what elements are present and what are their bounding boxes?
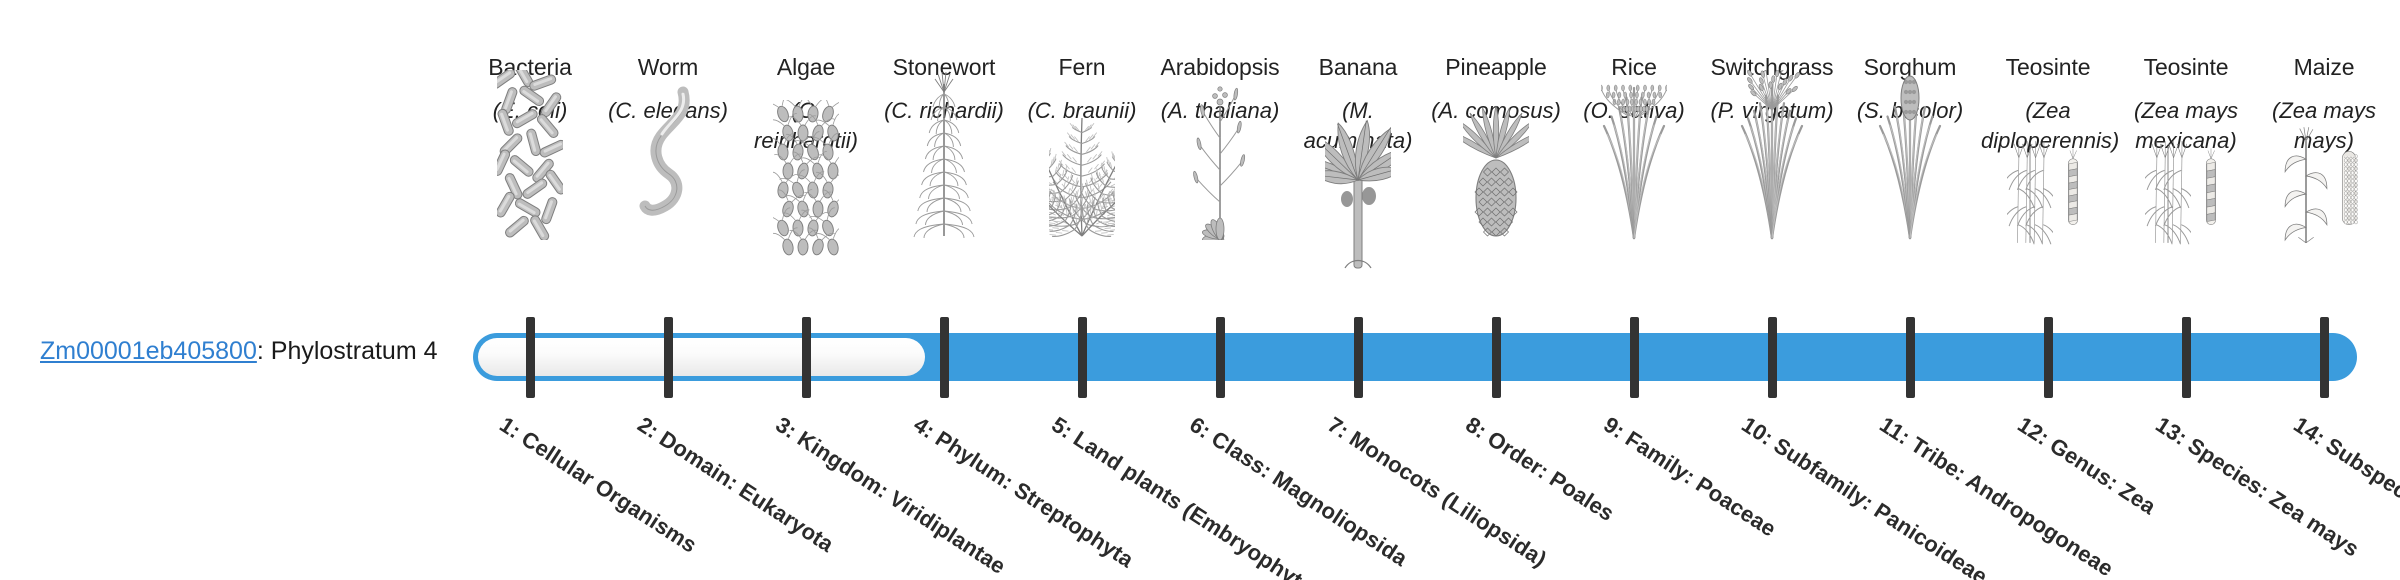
phylostratum-figure: Bacteria(E. coli) — [0, 0, 2400, 580]
switchgrass-illustration — [1739, 70, 1805, 240]
stratum-name: Genus: Zea — [2045, 433, 2160, 520]
species-column: Sorghum(S. bicolor) — [1841, 52, 1979, 240]
stratum-name: Class: Magnoliopsida — [1207, 426, 1412, 571]
bacteria-illustration — [497, 70, 563, 240]
teosinte-diploperennis-plant-illustration — [2007, 100, 2053, 270]
species-column: Worm(C. elegans) — [599, 52, 737, 240]
stratum-label: 9: Family: Poaceae — [1598, 410, 1899, 580]
arabidopsis-illustration — [1187, 70, 1253, 240]
bacteria-icon — [461, 136, 599, 240]
species-common-name: Banana — [1289, 52, 1427, 82]
banana-icon — [1289, 166, 1427, 270]
maize-plant-illustration — [2283, 100, 2329, 270]
species-common-name: Maize — [2255, 52, 2393, 82]
stonewort-illustration — [911, 70, 977, 240]
algae-icon — [737, 166, 875, 270]
species-column: Stonewort(C. richardii) — [875, 52, 1013, 240]
worm-icon — [599, 136, 737, 240]
stratum-label: 12: Genus: Zea — [2012, 410, 2313, 580]
rice-illustration — [1601, 70, 1667, 240]
species-column: Banana(M. acuminata) — [1289, 52, 1427, 270]
stratum-label: 7: Monocots (Liliopsida) — [1322, 410, 1623, 580]
stratum-number: 6: — [1185, 412, 1215, 444]
stratum-name: Phylum: Streptophyta — [931, 426, 1138, 573]
species-column: Teosinte(Zea diploperennis) — [1979, 52, 2117, 270]
teosinte-diplo-icon — [1979, 166, 2117, 270]
switchgrass-icon — [1703, 136, 1841, 240]
stratum-number: 11: — [1875, 412, 1915, 450]
banana-illustration — [1325, 100, 1391, 270]
stratum-number: 9: — [1599, 412, 1629, 444]
stratum-name: Cellular Organisms — [517, 426, 701, 558]
stratum-number: 7: — [1323, 412, 1353, 444]
stratum-label: 5: Land plants (Embryophyta) — [1046, 410, 1347, 580]
stratum-label: 1: Cellular Organisms — [494, 410, 795, 580]
stratum-number: 8: — [1461, 412, 1491, 444]
species-header-row: Bacteria(E. coli) — [0, 0, 2400, 300]
gene-id-link[interactable]: Zm00001eb405800 — [40, 337, 257, 365]
pineapple-icon — [1427, 136, 1565, 240]
stratum-number: 4: — [909, 412, 939, 444]
stratum-name: Order: Poales — [1483, 426, 1619, 526]
stonewort-icon — [875, 136, 1013, 240]
rice-icon — [1565, 136, 1703, 240]
species-column: Fern(C. braunii) — [1013, 52, 1151, 240]
stratum-label: 4: Phylum: Streptophyta — [908, 410, 1209, 580]
stratum-number: 5: — [1047, 412, 1077, 444]
stratum-name: Monocots (Liliopsida) — [1345, 426, 1551, 572]
stratum-name: Domain: Eukaryota — [655, 426, 838, 557]
species-common-name: Algae — [737, 52, 875, 82]
teosinte-diploperennis-ear-illustration — [2056, 100, 2090, 270]
stratum-name: Family: Poaceae — [1621, 426, 1780, 542]
sorghum-illustration — [1877, 70, 1943, 240]
stratum-number: 12: — [2013, 412, 2054, 450]
stratum-number: 1: — [495, 412, 525, 444]
stratum-label: 2: Domain: Eukaryota — [632, 410, 933, 580]
gene-label: Zm00001eb405800: Phylostratum 4 — [40, 336, 438, 366]
species-column: Algae(C. reinhardtii) — [737, 52, 875, 270]
arabidopsis-icon — [1151, 136, 1289, 240]
stratum-name: Kingdom: Viridiplantae — [793, 426, 1010, 579]
fern-icon — [1013, 136, 1151, 240]
pineapple-illustration — [1463, 70, 1529, 240]
species-column: Switchgrass(P. virgatum) — [1703, 52, 1841, 240]
phylostratum-progress-bar[interactable] — [473, 333, 2357, 381]
stratum-label: 3: Kingdom: Viridiplantae — [770, 410, 1071, 580]
stratum-label: 8: Order: Poales — [1460, 410, 1761, 580]
maize-icon — [2255, 166, 2393, 270]
stratum-number: 3: — [771, 412, 801, 444]
species-column: Teosinte(Zea mays mexicana) — [2117, 52, 2255, 270]
stratum-number: 10: — [1737, 412, 1778, 450]
worm-illustration — [635, 70, 701, 240]
species-column: Maize(Zea mays mays) — [2255, 52, 2393, 270]
stratum-label: 6: Class: Magnoliopsida — [1184, 410, 1485, 580]
stratum-name: Tribe: Andropogoneae — [1906, 432, 2117, 580]
teosinte-mex-icon — [2117, 166, 2255, 270]
stratum-label: 14: Subspecies: Zea mays mays — [2288, 410, 2400, 580]
teosinte-mexicana-plant-illustration — [2145, 100, 2191, 270]
progress-bar-unfilled-region — [478, 338, 925, 376]
gene-label-separator: : — [257, 337, 271, 365]
teosinte-mexicana-ear-illustration — [2194, 100, 2228, 270]
species-column: Pineapple(A. comosus) — [1427, 52, 1565, 240]
fern-illustration — [1049, 70, 1115, 240]
algae-illustration — [773, 100, 839, 270]
stratum-name: Species: Zea mays — [2183, 433, 2363, 562]
stratum-label: 11: Tribe: Andropogoneae — [1874, 410, 2175, 580]
gene-phylostratum-text: Phylostratum 4 — [271, 337, 438, 365]
sorghum-icon — [1841, 136, 1979, 240]
maize-ear-illustration — [2332, 100, 2366, 270]
stratum-name: Land plants (Embryophyta) — [1069, 426, 1324, 580]
stratum-number: 13: — [2151, 412, 2192, 450]
species-common-name: Teosinte — [1979, 52, 2117, 82]
species-column: Arabidopsis(A. thaliana) — [1151, 52, 1289, 240]
stratum-number: 2: — [633, 412, 663, 444]
species-column: Rice(O. sativa) — [1565, 52, 1703, 240]
stratum-label: 13: Species: Zea mays — [2150, 410, 2400, 580]
species-common-name: Teosinte — [2117, 52, 2255, 82]
stratum-name: Subfamily: Panicoideae — [1769, 433, 1992, 580]
stratum-number: 14: — [2289, 412, 2330, 450]
stratum-label: 10: Subfamily: Panicoideae — [1736, 410, 2037, 580]
stratum-name: Subspecies: Zea mays mays — [2321, 433, 2400, 580]
species-column: Bacteria(E. coli) — [461, 52, 599, 240]
